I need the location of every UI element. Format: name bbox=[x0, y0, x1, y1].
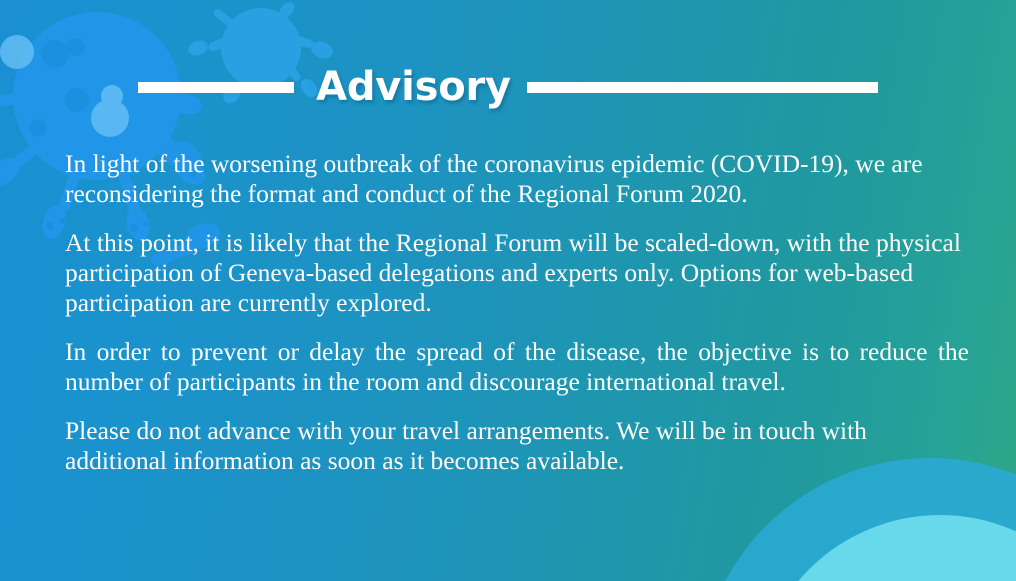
title-rule-right bbox=[527, 82, 878, 93]
corner-circles-decoration bbox=[698, 458, 1016, 581]
advisory-body: In light of the worsening outbreak of th… bbox=[65, 149, 969, 476]
slide-header: Advisory bbox=[0, 57, 1016, 117]
title-rule-left bbox=[138, 82, 294, 93]
page-title: Advisory bbox=[316, 67, 511, 107]
advisory-paragraph-1: In light of the worsening outbreak of th… bbox=[65, 149, 969, 209]
advisory-paragraph-2: At this point, it is likely that the Reg… bbox=[65, 228, 969, 318]
advisory-paragraph-4: Please do not advance with your travel a… bbox=[65, 416, 969, 476]
advisory-slide: Advisory In light of the worsening outbr… bbox=[0, 0, 1016, 581]
advisory-paragraph-3: In order to prevent or delay the spread … bbox=[65, 337, 969, 397]
